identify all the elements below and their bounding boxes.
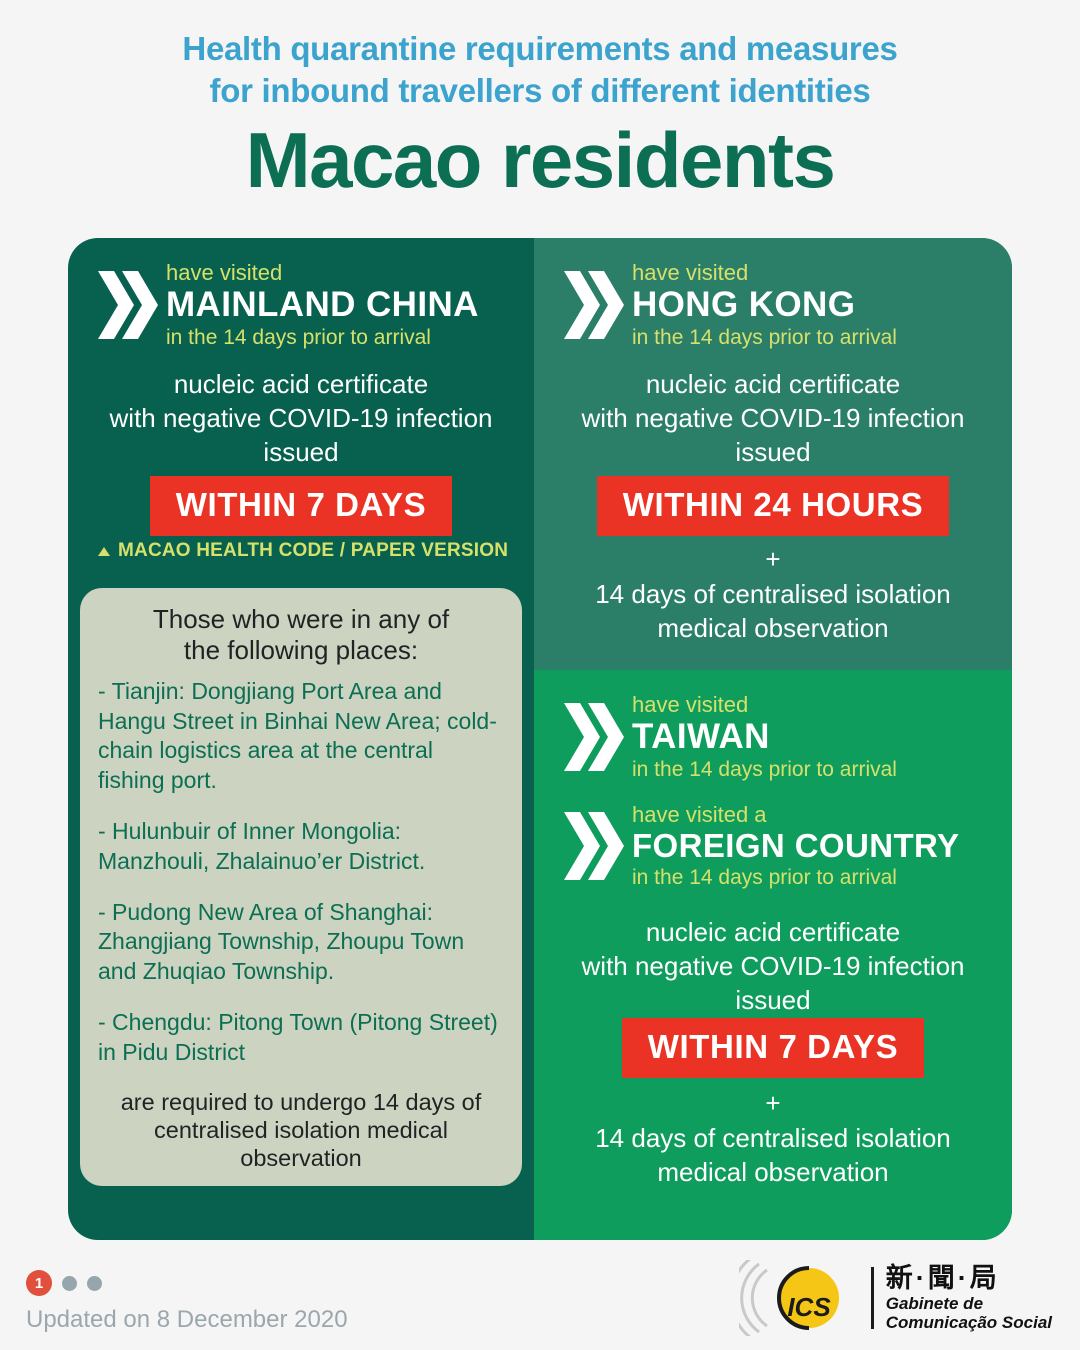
page-title: Macao residents bbox=[0, 120, 1080, 202]
subtitle: Health quarantine requirements and measu… bbox=[0, 28, 1080, 112]
taiwan-heading-place: TAIWAN bbox=[632, 717, 897, 757]
left-heading-post: in the 14 days prior to arrival bbox=[166, 325, 479, 350]
left-badge-wrap: WITHIN 7 DAYS bbox=[68, 476, 534, 536]
left-note-text: MACAO HEALTH CODE / PAPER VERSION bbox=[118, 540, 508, 562]
left-panel-mainland-china: have visited MAINLAND CHINA in the 14 da… bbox=[68, 238, 534, 1240]
hk-req-line-1: nucleic acid certificate bbox=[544, 368, 1002, 402]
infobox-list-item: - Tianjin: Dongjiang Port Area and Hangu… bbox=[98, 677, 504, 795]
right-panel-taiwan-foreign: have visited TAIWAN in the 14 days prior… bbox=[534, 670, 1012, 1240]
left-req-line-3: issued bbox=[78, 436, 524, 470]
page-indicator-active[interactable]: 1 bbox=[26, 1270, 52, 1296]
subtitle-line-2: for inbound travellers of different iden… bbox=[0, 70, 1080, 112]
foreign-heading-place: FOREIGN COUNTRY bbox=[632, 827, 959, 865]
infobox-list-item: - Chengdu: Pitong Town (Pitong Street) i… bbox=[98, 1008, 504, 1067]
hk-badge-wrap: WITHIN 24 HOURS bbox=[534, 476, 1012, 536]
tf-req-line-3: issued bbox=[544, 984, 1002, 1018]
foreign-heading-text: have visited a FOREIGN COUNTRY in the 14… bbox=[624, 802, 959, 890]
taiwan-heading-text: have visited TAIWAN in the 14 days prior… bbox=[624, 692, 897, 782]
taiwan-heading-pre: have visited bbox=[632, 692, 897, 717]
subtitle-line-1: Health quarantine requirements and measu… bbox=[0, 28, 1080, 70]
hk-extra-line-1: 14 days of centralised isolation bbox=[544, 578, 1002, 612]
taiwan-heading-post: in the 14 days prior to arrival bbox=[632, 757, 897, 782]
left-heading-place: MAINLAND CHINA bbox=[166, 285, 479, 325]
tf-extra-text: 14 days of centralised isolation medical… bbox=[544, 1122, 1002, 1190]
tf-extra-line-1: 14 days of centralised isolation bbox=[544, 1122, 1002, 1156]
infobox-title-line-1: Those who were in any of bbox=[92, 604, 510, 635]
page-indicator-dot[interactable] bbox=[87, 1276, 102, 1291]
hk-heading-text: have visited HONG KONG in the 14 days pr… bbox=[624, 260, 897, 350]
foreign-heading-post: in the 14 days prior to arrival bbox=[632, 865, 959, 890]
page-indicator[interactable]: 1 bbox=[26, 1270, 102, 1296]
hk-req-line-3: issued bbox=[544, 436, 1002, 470]
left-req-line-1: nucleic acid certificate bbox=[78, 368, 524, 402]
svg-text:ICS: ICS bbox=[787, 1292, 831, 1322]
right-panel-hong-kong: have visited HONG KONG in the 14 days pr… bbox=[534, 238, 1012, 670]
hk-status-badge: WITHIN 24 HOURS bbox=[597, 476, 950, 536]
left-heading-text: have visited MAINLAND CHINA in the 14 da… bbox=[158, 260, 479, 350]
taiwan-heading-block: have visited TAIWAN in the 14 days prior… bbox=[562, 692, 1002, 782]
hk-plus-sign: + bbox=[534, 544, 1012, 575]
gcs-logo-mark-icon: ICS bbox=[739, 1260, 859, 1336]
page-footer: 1 Updated on 8 December 2020 ICS bbox=[0, 1248, 1080, 1350]
hk-req-line-2: with negative COVID-19 infection bbox=[544, 402, 1002, 436]
double-chevron-icon bbox=[96, 267, 158, 343]
logo-divider bbox=[871, 1267, 874, 1329]
hk-heading-post: in the 14 days prior to arrival bbox=[632, 325, 897, 350]
left-heading-pre: have visited bbox=[166, 260, 479, 285]
infobox-footer: are required to undergo 14 days of centr… bbox=[94, 1089, 508, 1172]
infobox-title-line-2: the following places: bbox=[92, 635, 510, 666]
logo-chinese-name: 新·聞·局 bbox=[886, 1264, 1052, 1293]
updated-date: Updated on 8 December 2020 bbox=[26, 1306, 348, 1334]
hk-extra-text: 14 days of centralised isolation medical… bbox=[544, 578, 1002, 646]
logo-portuguese-line-1: Gabinete de bbox=[886, 1294, 1052, 1313]
logo-text: 新·聞·局 Gabinete de Comunicação Social bbox=[886, 1264, 1052, 1331]
tf-req-line-2: with negative COVID-19 infection bbox=[544, 950, 1002, 984]
hk-requirement-text: nucleic acid certificate with negative C… bbox=[544, 368, 1002, 469]
double-chevron-icon bbox=[562, 699, 624, 775]
left-requirement-text: nucleic acid certificate with negative C… bbox=[78, 368, 524, 469]
infobox-list-item: - Pudong New Area of Shanghai: Zhangjian… bbox=[98, 898, 504, 986]
gcs-logo: ICS 新·聞·局 Gabinete de Comunicação Social bbox=[739, 1260, 1052, 1336]
left-status-badge: WITHIN 7 DAYS bbox=[150, 476, 452, 536]
tf-badge-wrap: WITHIN 7 DAYS bbox=[534, 1018, 1012, 1078]
tf-status-badge: WITHIN 7 DAYS bbox=[622, 1018, 924, 1078]
triangle-up-icon bbox=[98, 547, 110, 556]
infobox-title: Those who were in any of the following p… bbox=[92, 604, 510, 665]
tf-plus-sign: + bbox=[534, 1088, 1012, 1119]
infobox-footer-line-2: centralised isolation medical observatio… bbox=[94, 1117, 508, 1172]
places-infobox: Those who were in any of the following p… bbox=[80, 588, 522, 1186]
tf-requirement-text: nucleic acid certificate with negative C… bbox=[544, 916, 1002, 1017]
left-note-row: MACAO HEALTH CODE / PAPER VERSION bbox=[98, 540, 508, 562]
logo-portuguese-line-2: Comunicação Social bbox=[886, 1313, 1052, 1332]
infographic-page: Health quarantine requirements and measu… bbox=[0, 0, 1080, 1350]
right-panel: have visited HONG KONG in the 14 days pr… bbox=[534, 238, 1012, 1240]
left-heading-block: have visited MAINLAND CHINA in the 14 da… bbox=[96, 260, 526, 350]
hk-heading-pre: have visited bbox=[632, 260, 897, 285]
left-req-line-2: with negative COVID-19 infection bbox=[78, 402, 524, 436]
double-chevron-icon bbox=[562, 808, 624, 884]
hk-heading-place: HONG KONG bbox=[632, 285, 897, 325]
panels-container: have visited MAINLAND CHINA in the 14 da… bbox=[68, 238, 1012, 1240]
foreign-heading-pre: have visited a bbox=[632, 802, 959, 827]
page-indicator-dot[interactable] bbox=[62, 1276, 77, 1291]
page-header: Health quarantine requirements and measu… bbox=[0, 0, 1080, 202]
infobox-footer-line-1: are required to undergo 14 days of bbox=[94, 1089, 508, 1117]
foreign-heading-block: have visited a FOREIGN COUNTRY in the 14… bbox=[562, 802, 1012, 890]
double-chevron-icon bbox=[562, 267, 624, 343]
hk-heading-block: have visited HONG KONG in the 14 days pr… bbox=[562, 260, 1002, 350]
tf-extra-line-2: medical observation bbox=[544, 1156, 1002, 1190]
tf-req-line-1: nucleic acid certificate bbox=[544, 916, 1002, 950]
infobox-list-item: - Hulunbuir of Inner Mongolia: Manzhouli… bbox=[98, 817, 504, 876]
hk-extra-line-2: medical observation bbox=[544, 612, 1002, 646]
